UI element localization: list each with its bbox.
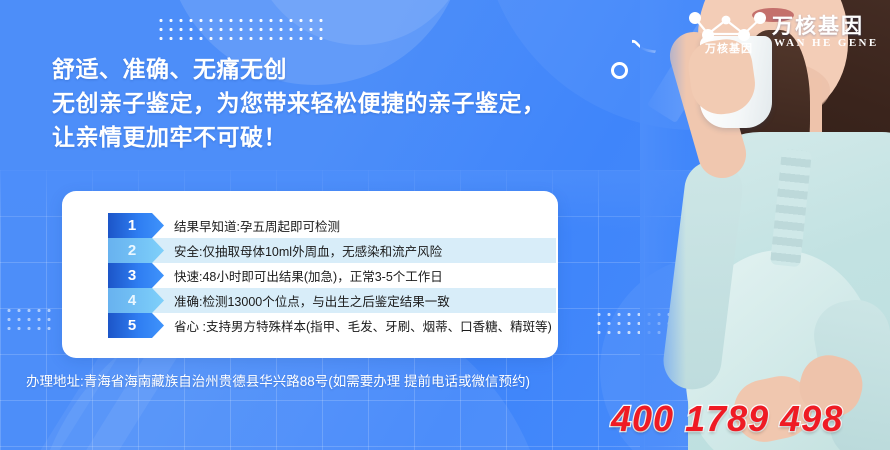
- logo-subtext-cn: 万核基因: [688, 40, 770, 56]
- decorative-circle: [250, 0, 470, 45]
- pregnant-woman-photo: [640, 0, 890, 450]
- feature-badge: 1: [108, 213, 164, 238]
- feature-badge: 5: [108, 313, 164, 338]
- brand-name-en: WAN HE GENE: [774, 37, 879, 49]
- feature-number: 5: [128, 317, 136, 334]
- feature-list: 1 结果早知道:孕五周起即可检测 2 安全:仅抽取母体10ml外周血，无感染和流…: [108, 213, 556, 338]
- office-address: 办理地址:青海省海南藏族自治州贵德县华兴路88号(如需要办理 提前电话或微信预约…: [26, 370, 530, 390]
- list-item: 1 结果早知道:孕五周起即可检测: [108, 213, 556, 238]
- list-item: 2 安全:仅抽取母体10ml外周血，无感染和流产风险: [108, 238, 556, 263]
- dot-grid-pattern: [4, 306, 56, 336]
- feature-text: 省心 :支持男方特殊样本(指甲、毛发、牙刷、烟蒂、口香糖、精斑等): [174, 316, 552, 335]
- headline-line-1: 舒适、准确、无痛无创: [52, 52, 652, 86]
- feature-badge: 4: [108, 288, 164, 313]
- feature-text: 结果早知道:孕五周起即可检测: [174, 216, 340, 235]
- hotline-number[interactable]: 400 1789 498: [611, 398, 843, 440]
- feature-number: 1: [128, 217, 136, 234]
- list-item: 5 省心 :支持男方特殊样本(指甲、毛发、牙刷、烟蒂、口香糖、精斑等): [108, 313, 556, 338]
- headline-line-3: 让亲情更加牢不可破！: [52, 120, 652, 154]
- brand-name-cn: 万核基因: [772, 10, 864, 40]
- feature-text: 快速:48小时即可出结果(加急)，正常3-5个工作日: [174, 266, 443, 285]
- brand-logo[interactable]: 万核基因 万核基因 WAN HE GENE: [686, 6, 886, 58]
- feature-number: 2: [128, 242, 136, 259]
- feature-text: 安全:仅抽取母体10ml外周血，无感染和流产风险: [174, 241, 442, 260]
- feature-number: 4: [128, 292, 136, 309]
- promotional-banner: 万核基因 万核基因 WAN HE GENE 舒适、准确、无痛无创 无创亲子鉴定，…: [0, 0, 890, 450]
- feature-number: 3: [128, 267, 136, 284]
- list-item: 3 快速:48小时即可出结果(加急)，正常3-5个工作日: [108, 263, 556, 288]
- feature-badge: 3: [108, 263, 164, 288]
- feature-badge: 2: [108, 238, 164, 263]
- headline-line-2: 无创亲子鉴定，为您带来轻松便捷的亲子鉴定，: [52, 86, 652, 120]
- list-item: 4 准确:检测13000个位点，与出生之后鉴定结果一致: [108, 288, 556, 313]
- feature-text: 准确:检测13000个位点，与出生之后鉴定结果一致: [174, 291, 450, 310]
- headline: 舒适、准确、无痛无创 无创亲子鉴定，为您带来轻松便捷的亲子鉴定， 让亲情更加牢不…: [52, 52, 652, 154]
- dot-grid-pattern: [156, 16, 328, 44]
